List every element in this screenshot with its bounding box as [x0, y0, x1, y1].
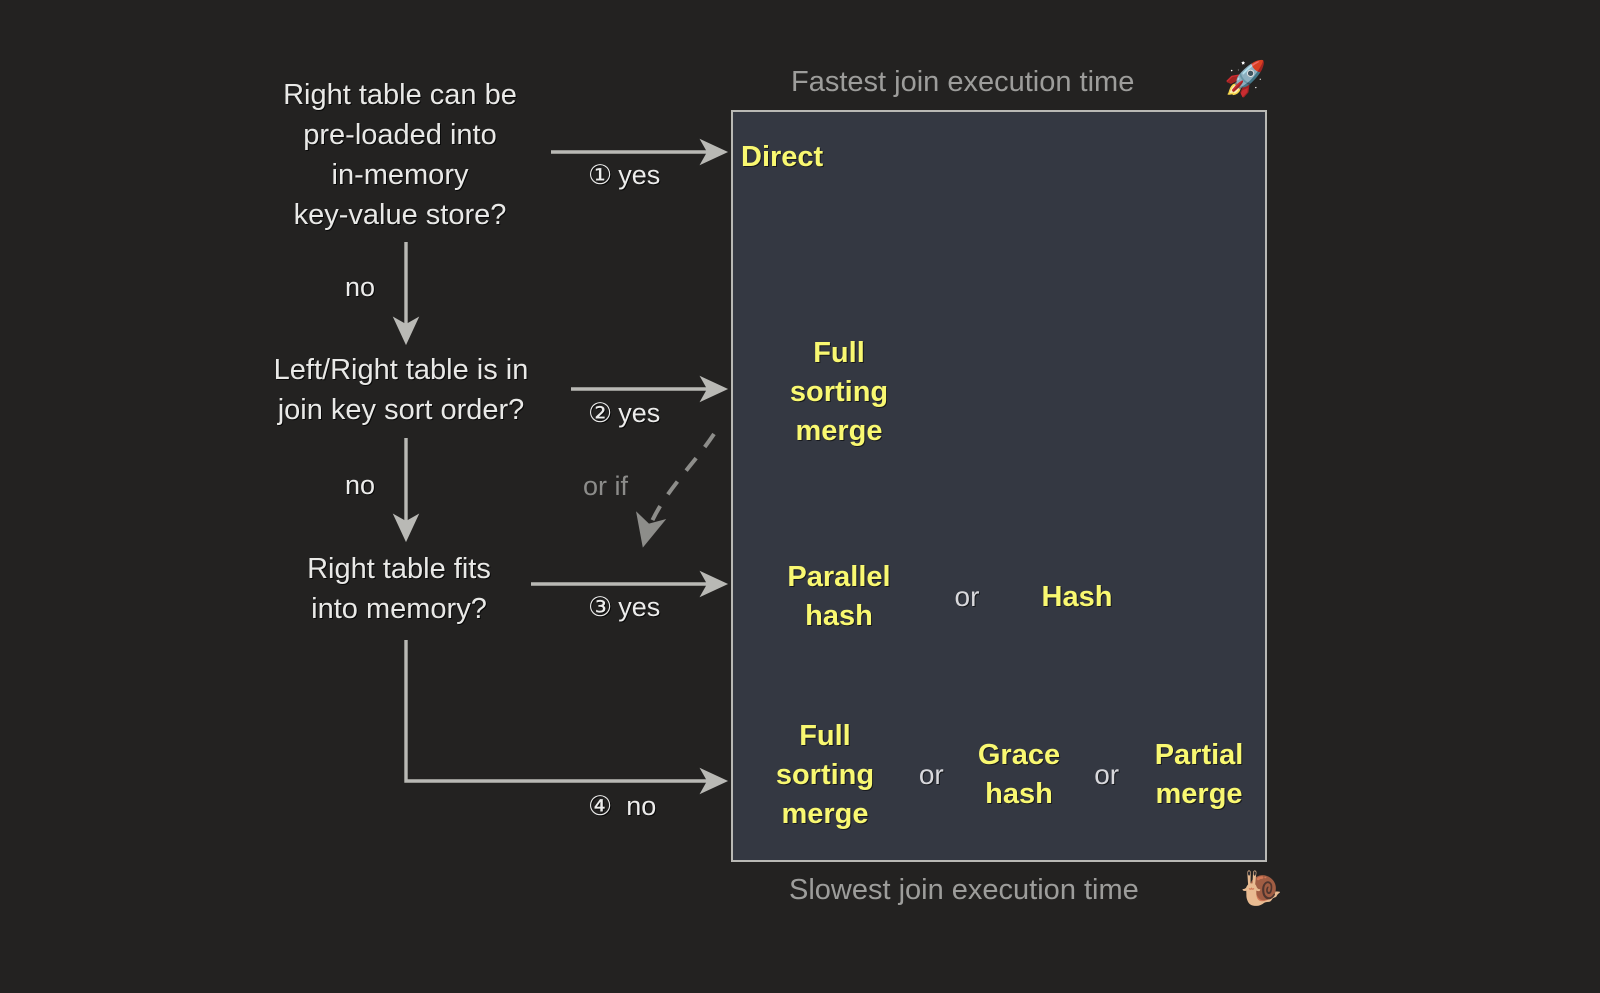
edge-label-q3-yes: ③yes — [588, 592, 660, 623]
caption-fastest: Fastest join execution time — [791, 66, 1134, 99]
decision-q1-text: Right table can be pre-loaded into in-me… — [230, 75, 570, 235]
decision-q3-text: Right table fits into memory? — [254, 549, 544, 629]
result-row-full-sorting-merge-1: Full sorting merge — [733, 332, 1269, 452]
snail-icon: 🐌 — [1240, 872, 1282, 906]
caption-slowest: Slowest join execution time — [789, 874, 1139, 907]
result-label-grace-hash: Grace hash — [954, 736, 1085, 814]
edge-label-or-if: or if — [583, 471, 628, 502]
edge-label-q1-yes-text: yes — [618, 160, 660, 190]
decision-q2-text: Left/Right table is in join key sort ord… — [230, 350, 572, 430]
result-separator-or-1: or — [937, 581, 997, 613]
result-label-partial-merge: Partial merge — [1129, 736, 1269, 814]
join-strategy-panel: Direct Full sorting merge Parallel hash … — [731, 110, 1267, 862]
marker-4: ④ — [588, 791, 612, 822]
marker-3: ③ — [588, 592, 612, 623]
result-separator-or-3: or — [1084, 759, 1129, 791]
edge-label-q2-no-text: no — [345, 470, 375, 500]
edge-label-q3-no-text: no — [626, 791, 656, 821]
edge-label-q2-yes: ②yes — [588, 398, 660, 429]
rocket-icon: 🚀 — [1224, 62, 1266, 96]
edge-label-q1-no: no — [345, 272, 375, 303]
edge-or-if-dashed — [644, 434, 714, 543]
edge-label-or-if-text: or if — [583, 471, 628, 501]
result-label-direct: Direct — [741, 138, 937, 177]
result-label-full-sorting-merge: Full sorting merge — [741, 334, 937, 451]
result-label-parallel-hash: Parallel hash — [741, 558, 937, 636]
result-row-direct: Direct — [733, 134, 1269, 180]
result-label-full-sorting-merge-2: Full sorting merge — [741, 717, 909, 834]
edge-label-q3-yes-text: yes — [618, 592, 660, 622]
marker-2: ② — [588, 398, 612, 429]
result-label-hash: Hash — [997, 578, 1157, 617]
edge-label-q3-no: ④no — [588, 791, 656, 822]
marker-1: ① — [588, 160, 612, 191]
edge-label-q2-yes-text: yes — [618, 398, 660, 428]
edge-label-q1-yes: ①yes — [588, 160, 660, 191]
result-row-parallel-hash: Parallel hash or Hash — [733, 552, 1269, 642]
edge-label-q1-no-text: no — [345, 272, 375, 302]
edge-q3-no — [406, 640, 724, 781]
edge-label-q2-no: no — [345, 470, 375, 501]
join-strategy-decision-diagram: Right table can be pre-loaded into in-me… — [0, 0, 1600, 993]
result-separator-or-2: or — [909, 759, 954, 791]
result-row-bottom-options: Full sorting merge or Grace hash or Part… — [733, 710, 1269, 840]
